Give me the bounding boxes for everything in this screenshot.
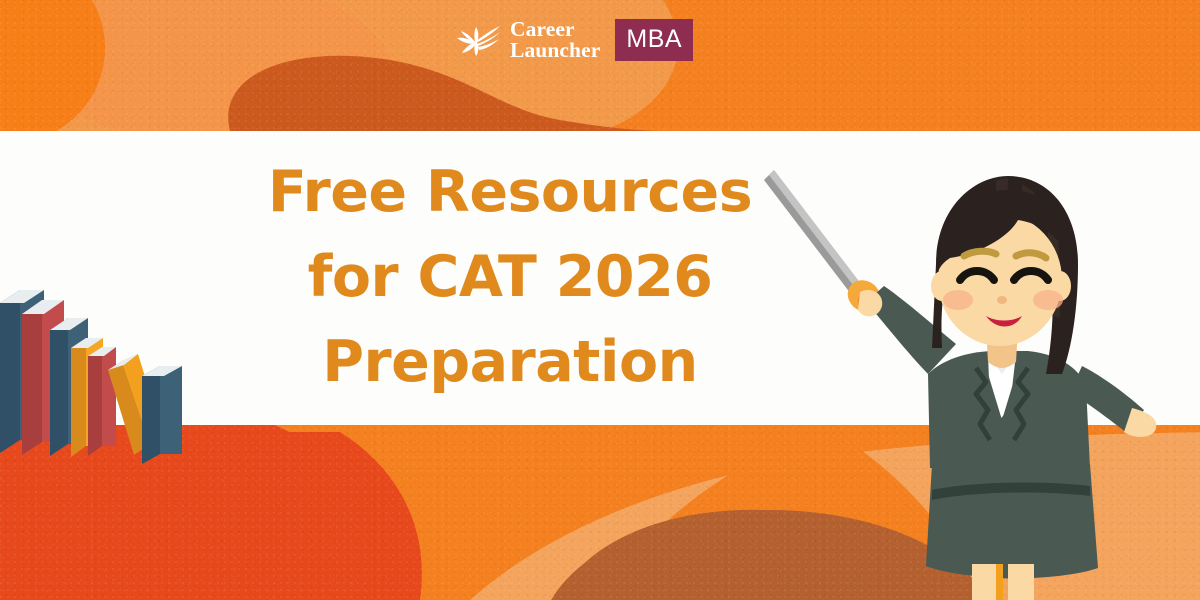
- promo-banner: Career Launcher MBA Free Resources for C…: [0, 0, 1200, 600]
- page-title: Free Resources for CAT 2026 Preparation: [160, 150, 860, 405]
- brand-name-line1: Career: [510, 19, 600, 40]
- headline-line-3: Preparation: [160, 320, 860, 405]
- brand-logo[interactable]: Career Launcher MBA: [455, 12, 693, 68]
- headline-line-1: Free Resources: [160, 150, 860, 235]
- brand-name-line2: Launcher: [510, 40, 600, 61]
- career-launcher-starburst-icon: [455, 20, 501, 60]
- headline-line-2: for CAT 2026: [160, 235, 860, 320]
- mba-badge[interactable]: MBA: [615, 19, 693, 61]
- brand-wordmark: Career Launcher: [510, 19, 600, 61]
